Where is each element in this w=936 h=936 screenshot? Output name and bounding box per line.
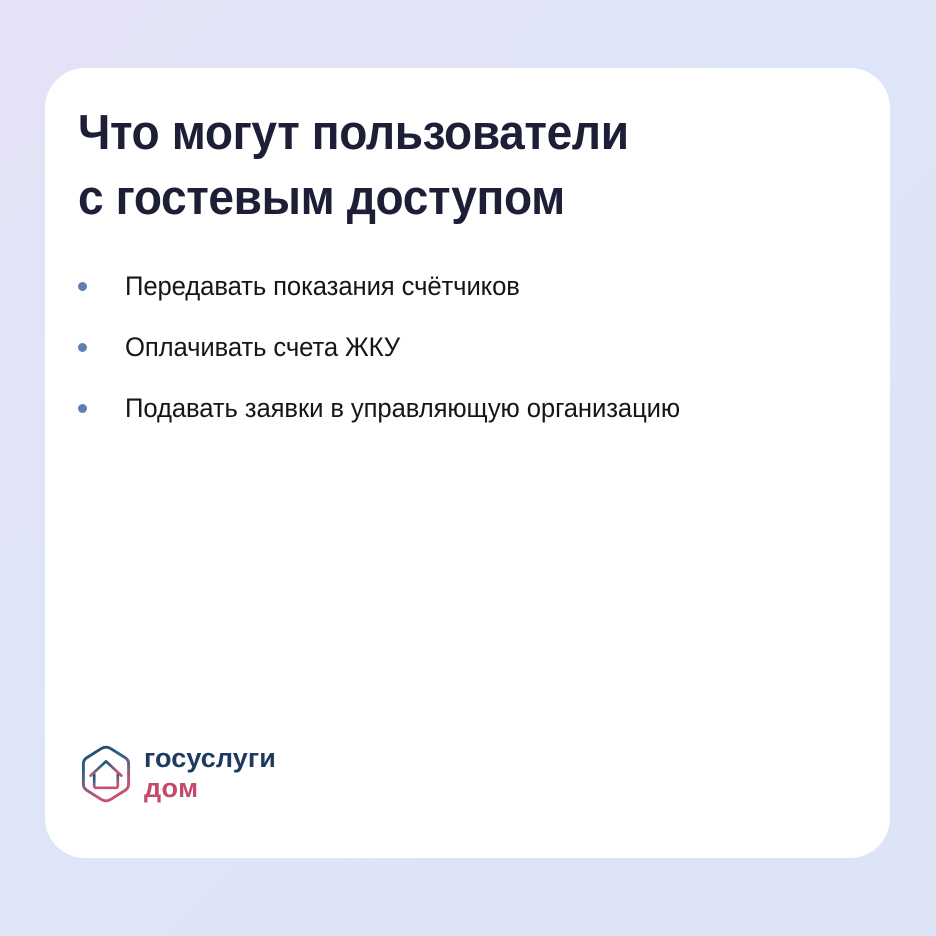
brand-name-line-2: дом [144, 774, 276, 803]
bullet-dot-icon [78, 404, 87, 413]
list-item: Передавать показания счётчиков [78, 270, 868, 304]
bullet-dot-icon [78, 343, 87, 352]
brand-name-line-1: госуслуги [144, 745, 276, 773]
list-item-label: Передавать показания счётчиков [125, 270, 831, 303]
brand-wordmark: госуслуги дом [144, 745, 276, 804]
list-item: Подавать заявки в управляющую организаци… [78, 392, 868, 426]
info-card: Что могут пользователи с гостевым доступ… [45, 68, 890, 858]
capability-list: Передавать показания счётчиков Оплачиват… [78, 270, 868, 426]
page-title: Что могут пользователи с гостевым доступ… [78, 101, 792, 230]
bullet-dot-icon [78, 282, 87, 291]
slide-canvas: Что могут пользователи с гостевым доступ… [0, 0, 936, 936]
brand-logo: госуслуги дом [78, 744, 276, 804]
list-item-label: Оплачивать счета ЖКУ [125, 331, 831, 364]
house-in-hexagon-icon [78, 744, 134, 804]
list-item: Оплачивать счета ЖКУ [78, 331, 868, 365]
list-item-label: Подавать заявки в управляющую организаци… [125, 392, 831, 425]
